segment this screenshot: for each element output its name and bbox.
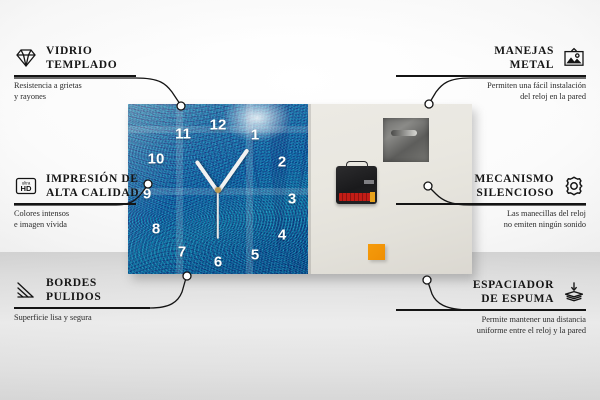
foam-spacer	[368, 244, 385, 260]
feature-title: MECANISMO SILENCIOSO	[474, 172, 554, 200]
feature-desc: Superficie lisa y segura	[14, 312, 204, 323]
clock-numeral: 1	[251, 128, 259, 143]
clock-mechanism-box	[336, 166, 377, 204]
feature-title: MANEJAS METAL	[494, 44, 554, 72]
feature-rule	[396, 203, 586, 205]
arrow-onto-layers-icon	[562, 280, 586, 304]
mechanism-label	[364, 180, 374, 184]
clock-numeral: 4	[278, 228, 286, 243]
feature-desc: Permite mantener una distancia uniforme …	[396, 314, 586, 336]
feature-title: ESPACIADOR DE ESPUMA	[473, 278, 554, 306]
feature-desc: Colores intensos e imagen vívida	[14, 208, 204, 230]
clock-numeral: 11	[175, 127, 191, 142]
feature-rule	[14, 75, 136, 77]
clock-numeral: 3	[288, 192, 296, 207]
picture-frame-hanger-icon	[562, 46, 586, 70]
gear-icon	[562, 174, 586, 198]
feature-rule	[396, 75, 586, 77]
svg-text:HD: HD	[21, 184, 32, 193]
feature-manejas-metal[interactable]: MANEJAS METAL Permiten una fácil instala…	[396, 44, 586, 102]
clock-numeral: 12	[210, 118, 227, 133]
feature-title: VIDRIO TEMPLADO	[46, 44, 117, 72]
feature-desc: Las manecillas del reloj no emiten ningú…	[396, 208, 586, 230]
polished-edge-icon	[14, 278, 38, 302]
mechanism-shaft	[346, 161, 368, 169]
clock-center-cap	[215, 187, 221, 193]
metal-hanger-plate	[383, 118, 429, 162]
clock-numeral: 7	[178, 245, 186, 260]
diamond-icon	[14, 46, 38, 70]
clock-numeral: 2	[278, 155, 286, 170]
feature-vidrio-templado[interactable]: VIDRIO TEMPLADO Resistencia a grietas y …	[14, 44, 204, 102]
clock-numeral: 6	[214, 255, 222, 270]
clock-second-hand	[217, 191, 219, 239]
feature-mecanismo-silencioso[interactable]: MECANISMO SILENCIOSO Las manecillas del …	[396, 172, 586, 230]
feature-rule	[14, 203, 136, 205]
battery	[339, 193, 373, 201]
panel-edge	[308, 104, 311, 274]
feature-espaciador-espuma[interactable]: ESPACIADOR DE ESPUMA Permite mantener un…	[396, 278, 586, 336]
feature-rule	[396, 309, 586, 311]
feature-title: IMPRESIÓN DE ALTA CALIDAD	[46, 172, 139, 200]
feature-title: BORDES PULIDOS	[46, 276, 101, 304]
battery-terminal	[370, 192, 375, 202]
feature-rule	[14, 307, 150, 309]
feature-desc: Permiten una fácil instalación del reloj…	[396, 80, 586, 102]
hanger-keyhole-slot	[391, 130, 417, 136]
feature-bordes-pulidos[interactable]: BORDES PULIDOS Superficie lisa y segura	[14, 276, 204, 323]
ultra-hd-icon: ultra HD	[14, 174, 38, 198]
clock-numeral: 5	[251, 248, 259, 263]
feature-desc: Resistencia a grietas y rayones	[14, 80, 204, 102]
clock-numeral: 10	[148, 152, 165, 167]
infographic-canvas: 12 1 2 3 4 5 6 7 8 9 10 11	[0, 0, 600, 400]
feature-impresion-alta-calidad[interactable]: ultra HD IMPRESIÓN DE ALTA CALIDAD Color…	[14, 172, 204, 230]
